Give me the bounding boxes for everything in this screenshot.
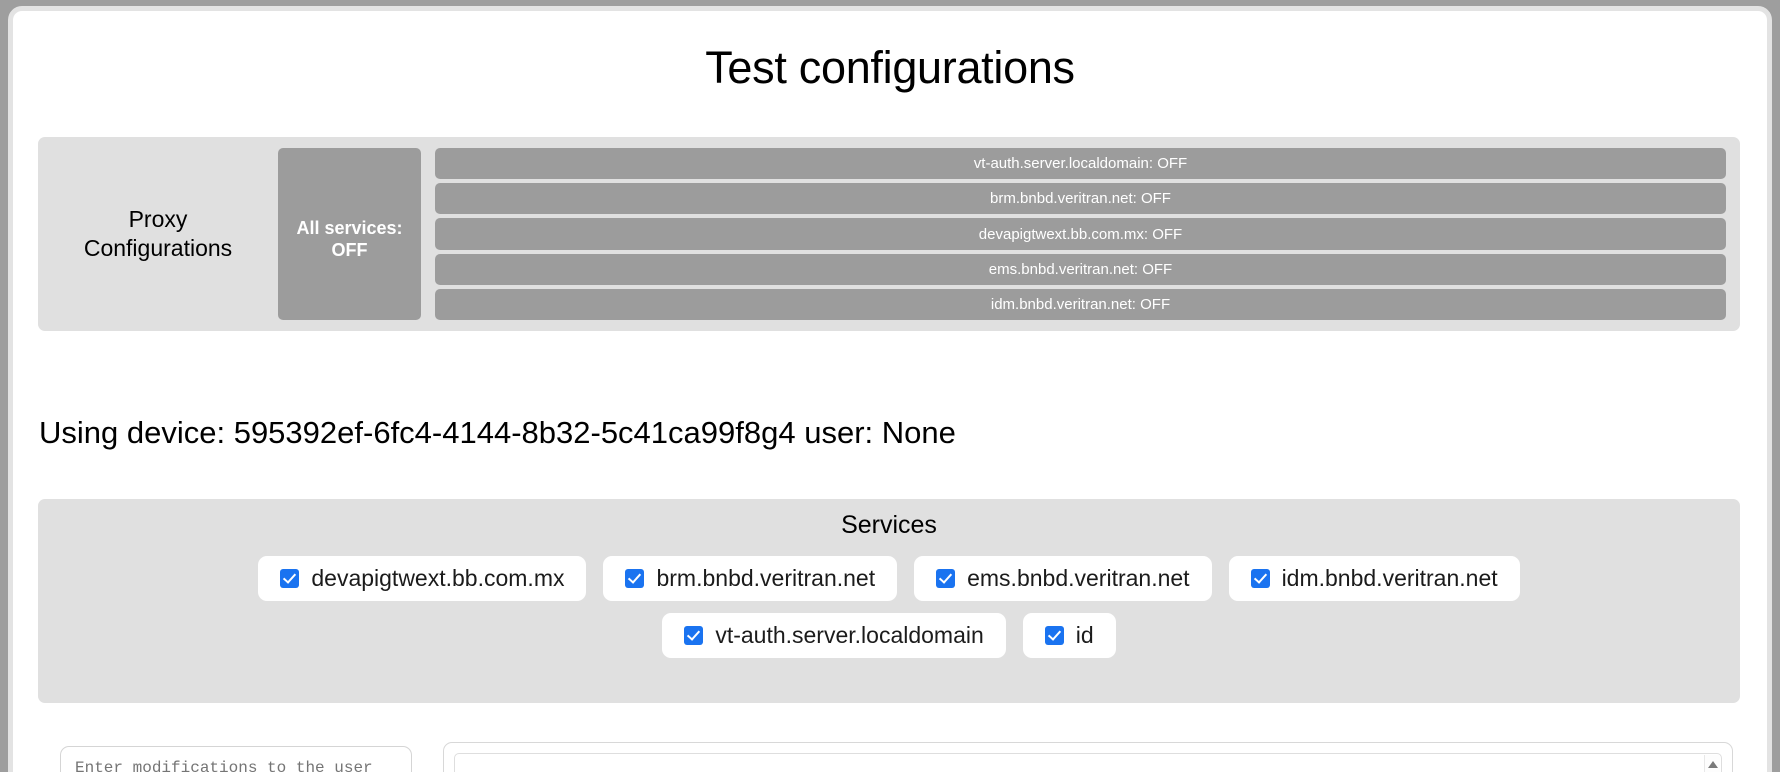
service-checkbox-vt-auth[interactable]: vt-auth.server.localdomain xyxy=(662,613,1005,658)
using-device-line: Using device: 595392ef-6fc4-4144-8b32-5c… xyxy=(39,415,956,451)
proxy-configurations-label: Proxy Configurations xyxy=(38,137,278,331)
all-services-line2: OFF xyxy=(332,240,368,260)
services-panel: Services devapigtwext.bb.com.mx brm.bnbd… xyxy=(38,499,1740,703)
screen: Test configurations Proxy Configurations… xyxy=(0,0,1780,772)
scroll-up-arrow-icon[interactable] xyxy=(1708,761,1718,768)
log-output-field[interactable] xyxy=(454,753,1722,772)
service-checkbox-ems[interactable]: ems.bnbd.veritran.net xyxy=(914,556,1211,601)
checkmark-icon[interactable] xyxy=(1045,626,1064,645)
checkmark-icon[interactable] xyxy=(280,569,299,588)
checkmark-icon[interactable] xyxy=(625,569,644,588)
log-output-panel xyxy=(443,742,1733,772)
log-scrollbar[interactable] xyxy=(1704,755,1720,772)
all-services-toggle-button[interactable]: All services: OFF xyxy=(278,148,421,320)
service-label: ems.bnbd.veritran.net xyxy=(967,565,1189,592)
services-checkbox-row-1: devapigtwext.bb.com.mx brm.bnbd.veritran… xyxy=(38,556,1740,601)
proxy-label-line2: Configurations xyxy=(84,235,232,261)
service-label: idm.bnbd.veritran.net xyxy=(1282,565,1498,592)
proxy-label-line1: Proxy xyxy=(129,206,188,232)
service-checkbox-devapigtwext[interactable]: devapigtwext.bb.com.mx xyxy=(258,556,586,601)
services-heading: Services xyxy=(38,511,1740,540)
services-checkbox-row-2: vt-auth.server.localdomain id xyxy=(38,613,1740,658)
checkmark-icon[interactable] xyxy=(936,569,955,588)
service-label: devapigtwext.bb.com.mx xyxy=(311,565,564,592)
service-checkbox-brm[interactable]: brm.bnbd.veritran.net xyxy=(603,556,897,601)
service-checkbox-idm[interactable]: idm.bnbd.veritran.net xyxy=(1229,556,1520,601)
page-title: Test configurations xyxy=(13,11,1767,93)
all-services-line1: All services: xyxy=(296,218,402,238)
service-checkbox-id[interactable]: id xyxy=(1023,613,1116,658)
proxy-row-vt-auth[interactable]: vt-auth.server.localdomain: OFF xyxy=(435,148,1726,179)
checkmark-icon[interactable] xyxy=(684,626,703,645)
service-label: id xyxy=(1076,622,1094,649)
service-label: brm.bnbd.veritran.net xyxy=(656,565,875,592)
page-card: Test configurations Proxy Configurations… xyxy=(8,6,1772,772)
proxy-rows: vt-auth.server.localdomain: OFF brm.bnbd… xyxy=(421,137,1740,331)
proxy-configurations-panel: Proxy Configurations All services: OFF v… xyxy=(38,137,1740,331)
proxy-row-idm[interactable]: idm.bnbd.veritran.net: OFF xyxy=(435,289,1726,320)
proxy-row-ems[interactable]: ems.bnbd.veritran.net: OFF xyxy=(435,254,1726,285)
proxy-row-brm[interactable]: brm.bnbd.veritran.net: OFF xyxy=(435,183,1726,214)
proxy-row-devapigtwext[interactable]: devapigtwext.bb.com.mx: OFF xyxy=(435,218,1726,249)
service-label: vt-auth.server.localdomain xyxy=(715,622,983,649)
user-modifications-input[interactable] xyxy=(60,746,412,772)
checkmark-icon[interactable] xyxy=(1251,569,1270,588)
